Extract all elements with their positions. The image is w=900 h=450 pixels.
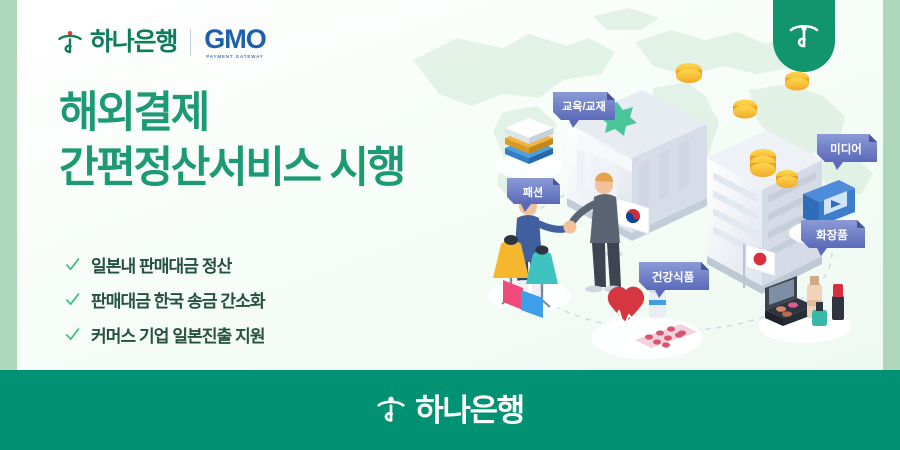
label-tag-media: 미디어 xyxy=(817,134,877,170)
gmo-logo-text: GMO xyxy=(204,26,266,53)
check-icon xyxy=(65,257,80,272)
list-item: 일본내 판매대금 정산 xyxy=(65,252,265,277)
footer-logo-text: 하나은행 xyxy=(415,395,523,426)
list-item: 커머스 기업 일본진출 지원 xyxy=(65,322,265,347)
list-item-label: 일본내 판매대금 정산 xyxy=(91,252,231,277)
label-tag-health: 건강식품 xyxy=(639,262,709,298)
gmo-logo-subtitle: PAYMENT GATEWAY xyxy=(206,55,263,60)
hana-bank-symbol-icon xyxy=(57,28,83,58)
list-item: 판매대금 한국 송금 간소화 xyxy=(65,287,265,312)
label-tag-cosmetics-text: 화장품 xyxy=(816,228,848,242)
promo-banner: 하나은행 GMO PAYMENT GATEWAY 해외결제 간편정산서비스 시행… xyxy=(0,0,900,450)
label-tag-fashion-text: 패션 xyxy=(523,185,543,199)
check-icon xyxy=(65,327,80,342)
isometric-illustration: 교육/교재 패션 건강식품 미디어 xyxy=(457,48,883,368)
footer-bar: 하나은행 xyxy=(0,370,900,450)
gmo-logo: GMO PAYMENT GATEWAY xyxy=(204,26,266,60)
logo-row: 하나은행 GMO PAYMENT GATEWAY xyxy=(57,26,266,60)
heart-and-pills xyxy=(591,287,703,359)
list-item-label: 판매대금 한국 송금 간소화 xyxy=(91,287,265,312)
logo-divider xyxy=(190,29,191,56)
check-icon xyxy=(65,292,80,307)
label-tag-books-text: 교육/교재 xyxy=(562,99,606,113)
hana-bank-logo: 하나은행 xyxy=(57,28,177,58)
page-title: 해외결제 간편정산서비스 시행 xyxy=(59,86,404,195)
headline-line-2: 간편정산서비스 시행 xyxy=(59,141,404,196)
headline-line-1: 해외결제 xyxy=(59,86,404,141)
cosmetics-set xyxy=(759,276,851,343)
feature-list: 일본내 판매대금 정산 판매대금 한국 송금 간소화 커머스 기업 일본진출 지… xyxy=(65,252,265,347)
banner-stage: 하나은행 GMO PAYMENT GATEWAY 해외결제 간편정산서비스 시행… xyxy=(17,0,883,370)
hana-logo-text: 하나은행 xyxy=(90,30,177,55)
label-tag-media-text: 미디어 xyxy=(830,142,862,156)
book-stack xyxy=(495,118,563,179)
label-tag-health-text: 건강식품 xyxy=(652,270,695,284)
list-item-label: 커머스 기업 일본진출 지원 xyxy=(91,322,265,347)
hana-bank-symbol-icon xyxy=(376,393,406,427)
